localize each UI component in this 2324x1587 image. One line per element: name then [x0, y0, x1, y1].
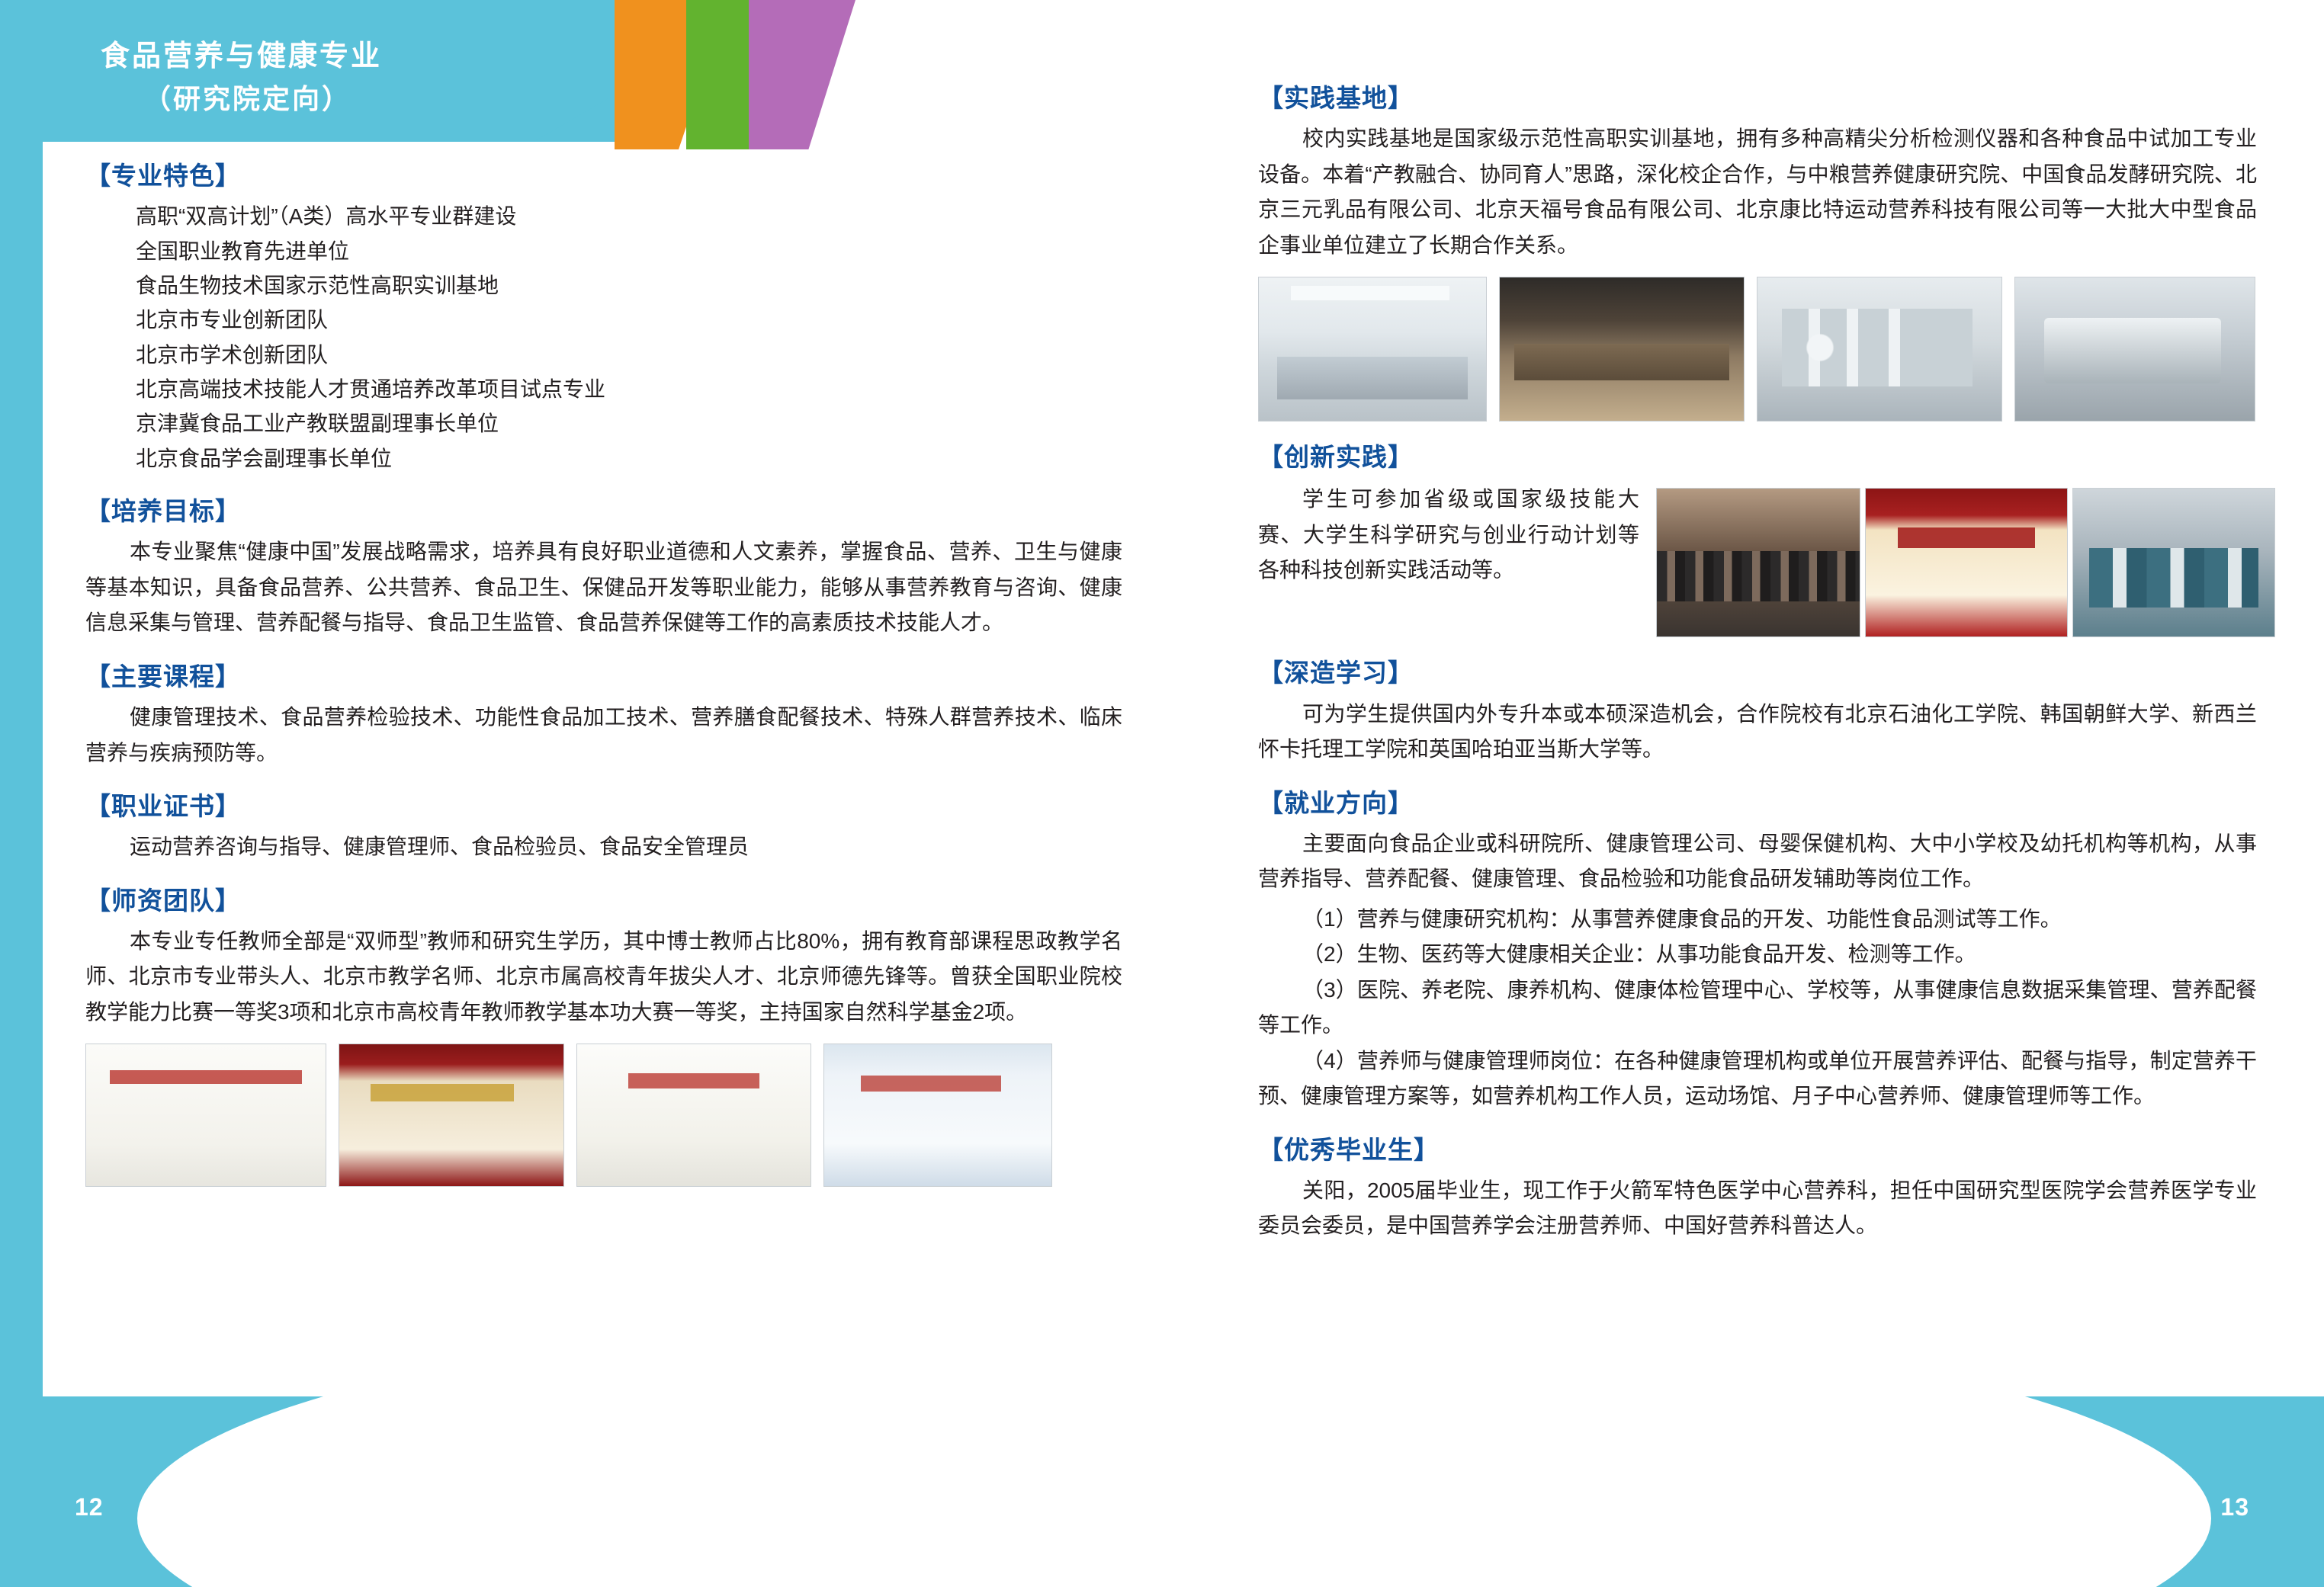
section-heading-courses: 【主要课程】 [85, 661, 1122, 692]
page-number-left: 12 [75, 1493, 104, 1521]
honor-certificate-beijing-young-teacher-image [339, 1044, 564, 1187]
honor-certificate-national-informatized-teaching-image [85, 1044, 326, 1187]
courses-body: 健康管理技术、食品营养检验技术、功能性食品加工技术、营养膳食配餐技术、特殊人群营… [85, 700, 1122, 771]
further-study-body: 可为学生提供国内外专升本或本硕深造机会，合作院校有北京石油化工学院、韩国朝鲜大学… [1258, 697, 2257, 768]
photo-processing-machine [2014, 277, 2255, 422]
section-heading-faculty: 【师资团队】 [85, 885, 1122, 916]
photo-skills-competition-booth [1656, 488, 1860, 637]
employment-item: （2）生物、医药等大健康相关企业：从事功能食品开发、检测等工作。 [1258, 937, 2257, 972]
section-heading-alumni: 【优秀毕业生】 [1258, 1134, 2257, 1165]
photo-laboratory-bench [1258, 277, 1487, 422]
certificates-body: 运动营养咨询与指导、健康管理师、食品检验员、食品安全管理员 [85, 829, 1122, 864]
list-item: 食品生物技术国家示范性高职实训基地 [85, 268, 1122, 303]
list-item: 全国职业教育先进单位 [85, 234, 1122, 268]
award-certificate-2014-vocational-skills-image [576, 1044, 811, 1187]
employment-item: （3）医院、养老院、康养机构、健康体检管理中心、学校等，从事健康信息数据采集管理… [1258, 973, 2257, 1044]
footer-wave [0, 1396, 2324, 1587]
section-heading-features: 【专业特色】 [85, 160, 1122, 191]
section-heading-innovation: 【创新实践】 [1258, 441, 2257, 473]
photo-students-award-ceremony [2072, 488, 2275, 637]
left-column: 【专业特色】 高职“双高计划”（A类）高水平专业群建设 全国职业教育先进单位 食… [85, 160, 1122, 1190]
left-edge-strip [0, 0, 43, 1452]
list-item: 北京高端技术技能人才贯通培养改革项目试点专业 [85, 372, 1122, 406]
photo-award-certificate-2016 [1865, 488, 2068, 637]
list-item: 高职“双高计划”（A类）高水平专业群建设 [85, 199, 1122, 233]
section-heading-employment: 【就业方向】 [1258, 787, 2257, 819]
page-title: 食品营养与健康专业 [101, 35, 382, 79]
page-number-right: 13 [2220, 1493, 2249, 1521]
innovation-body: 学生可参加省级或国家级技能大赛、大学生科学研究与创业行动计划等各种科技创新实践活… [1258, 482, 1639, 588]
practice-base-gallery [1258, 277, 2257, 422]
employment-item: （1）营养与健康研究机构：从事营养健康食品的开发、功能性食品测试等工作。 [1258, 902, 2257, 937]
list-item: 北京市专业创新团队 [85, 303, 1122, 337]
practice-base-body: 校内实践基地是国家级示范性高职实训基地，拥有多种高精尖分析检测仪器和各种食品中试… [1258, 121, 2257, 263]
photo-fermentation-tanks [1757, 277, 2002, 422]
objective-body: 本专业聚焦“健康中国”发展战略需求，培养具有良好职业道德和人文素养，掌握食品、营… [85, 534, 1122, 640]
innovation-block: 学生可参加省级或国家级技能大赛、大学生科学研究与创业行动计划等各种科技创新实践活… [1258, 480, 2257, 637]
list-item: 京津冀食品工业产教联盟副理事长单位 [85, 406, 1122, 441]
section-heading-further-study: 【深造学习】 [1258, 657, 2257, 688]
brochure-page: 食品营养与健康专业 （研究院定向） 【专业特色】 高职“双高计划”（A类）高水平… [0, 0, 2324, 1587]
page-subtitle: （研究院定向） [101, 79, 382, 120]
faculty-certificate-gallery [85, 1044, 1122, 1187]
alumni-body: 关阳，2005届毕业生，现工作于火箭军特色医学中心营养科，担任中国研究型医院学会… [1258, 1173, 2257, 1244]
section-heading-certificates: 【职业证书】 [85, 790, 1122, 822]
innovation-gallery [1656, 488, 2275, 637]
header-title-group: 食品营养与健康专业 （研究院定向） [101, 35, 382, 120]
list-item: 北京市学术创新团队 [85, 338, 1122, 372]
employment-item: （4）营养师与健康管理师岗位：在各种健康管理机构或单位开展营养评估、配餐与指导，… [1258, 1044, 2257, 1114]
section-heading-objective: 【培养目标】 [85, 495, 1122, 527]
list-item: 北京食品学会副理事长单位 [85, 441, 1122, 476]
features-list: 高职“双高计划”（A类）高水平专业群建设 全国职业教育先进单位 食品生物技术国家… [85, 199, 1122, 476]
section-heading-practice-base: 【实践基地】 [1258, 82, 2257, 114]
faculty-body: 本专业专任教师全部是“双师型”教师和研究生学历，其中博士教师占比80%，拥有教育… [85, 924, 1122, 1030]
right-column: 【实践基地】 校内实践基地是国家级示范性高职实训基地，拥有多种高精尖分析检测仪器… [1258, 82, 2257, 1249]
honor-certificate-blue-image [823, 1044, 1052, 1187]
photo-training-classroom [1499, 277, 1745, 422]
employment-intro: 主要面向食品企业或科研院所、健康管理公司、母婴保健机构、大中小学校及幼托机构等机… [1258, 826, 2257, 897]
decorative-stripe-purple [749, 0, 855, 149]
